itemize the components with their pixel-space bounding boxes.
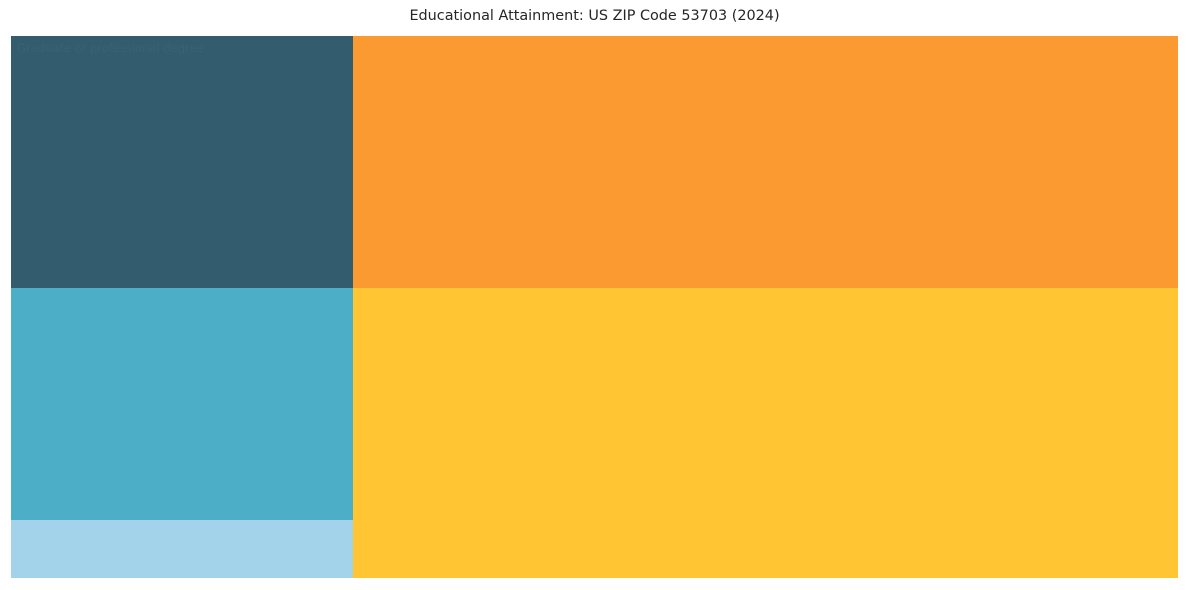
treemap-figure: Educational Attainment: US ZIP Code 5370… xyxy=(0,0,1189,590)
chart-title: Educational Attainment: US ZIP Code 5370… xyxy=(0,8,1189,25)
treemap-tile-label-some-college: Some college or associate's degree xyxy=(359,293,1172,307)
treemap-tile-some-college-or-associates-degree[interactable]: Some college or associate's degree xyxy=(353,288,1178,578)
treemap-tile-label-highschool: High school graduate xyxy=(17,293,347,307)
treemap-plot-area: Graduate or professional degree High sch… xyxy=(11,36,1178,578)
treemap-tile-bachelors-degree[interactable]: Bachelor's degree xyxy=(353,36,1178,288)
treemap-tile-less-than-high-school[interactable]: Less than high school xyxy=(11,520,353,578)
treemap-tile-label-graduate: Graduate or professional degree xyxy=(17,41,347,55)
treemap-tile-graduate-or-professional-degree[interactable]: Graduate or professional degree xyxy=(11,36,353,288)
treemap-tile-label-bachelors: Bachelor's degree xyxy=(359,41,1172,55)
treemap-tile-high-school-graduate[interactable]: High school graduate xyxy=(11,288,353,520)
treemap-tile-label-less-than-hs: Less than high school xyxy=(17,525,347,539)
